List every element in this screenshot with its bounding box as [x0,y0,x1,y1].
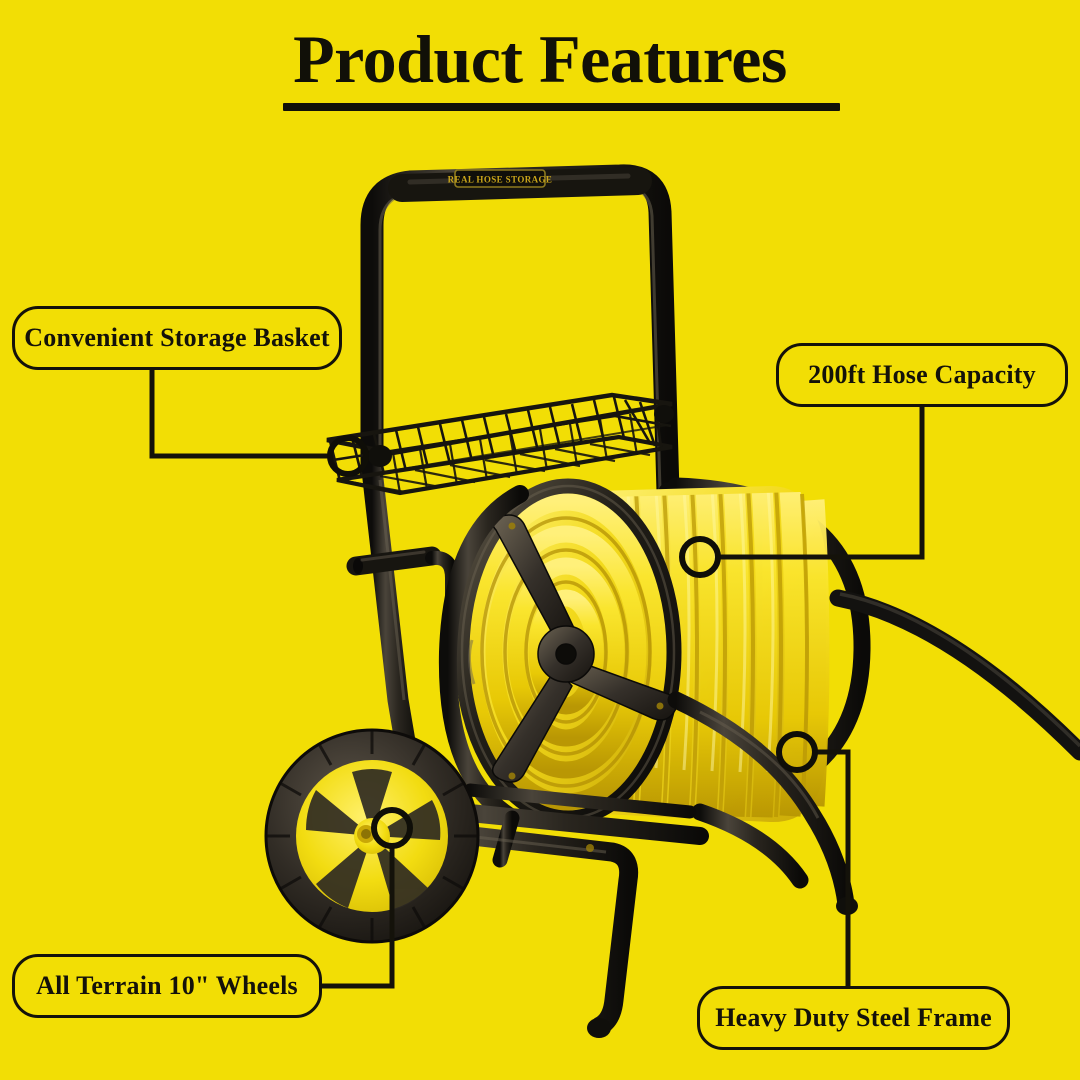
cart-handle: REAL HOSE STORAGE [372,170,668,492]
callout-storage-basket-label: Convenient Storage Basket [24,323,329,353]
infographic-canvas: REAL HOSE STORAGE [0,0,1080,1080]
callout-hose-capacity-label: 200ft Hose Capacity [808,360,1036,390]
title-block: Product Features [0,24,1080,95]
brand-badge-text: REAL HOSE STORAGE [448,175,553,185]
product-image: REAL HOSE STORAGE [0,0,1080,1080]
callout-steel-frame[interactable]: Heavy Duty Steel Frame [697,986,1010,1050]
cart-wheel [266,730,478,942]
hose-tail [838,594,1080,752]
callout-steel-frame-label: Heavy Duty Steel Frame [715,1003,992,1033]
brand-badge: REAL HOSE STORAGE [448,170,553,187]
callout-hose-capacity[interactable]: 200ft Hose Capacity [776,343,1068,407]
callout-storage-basket[interactable]: Convenient Storage Basket [12,306,342,370]
crank-handle [353,552,452,606]
title-underline [283,103,840,111]
callout-all-terrain-wheels-label: All Terrain 10" Wheels [36,971,298,1001]
callout-all-terrain-wheels[interactable]: All Terrain 10" Wheels [12,954,322,1018]
page-title: Product Features [0,24,1080,95]
